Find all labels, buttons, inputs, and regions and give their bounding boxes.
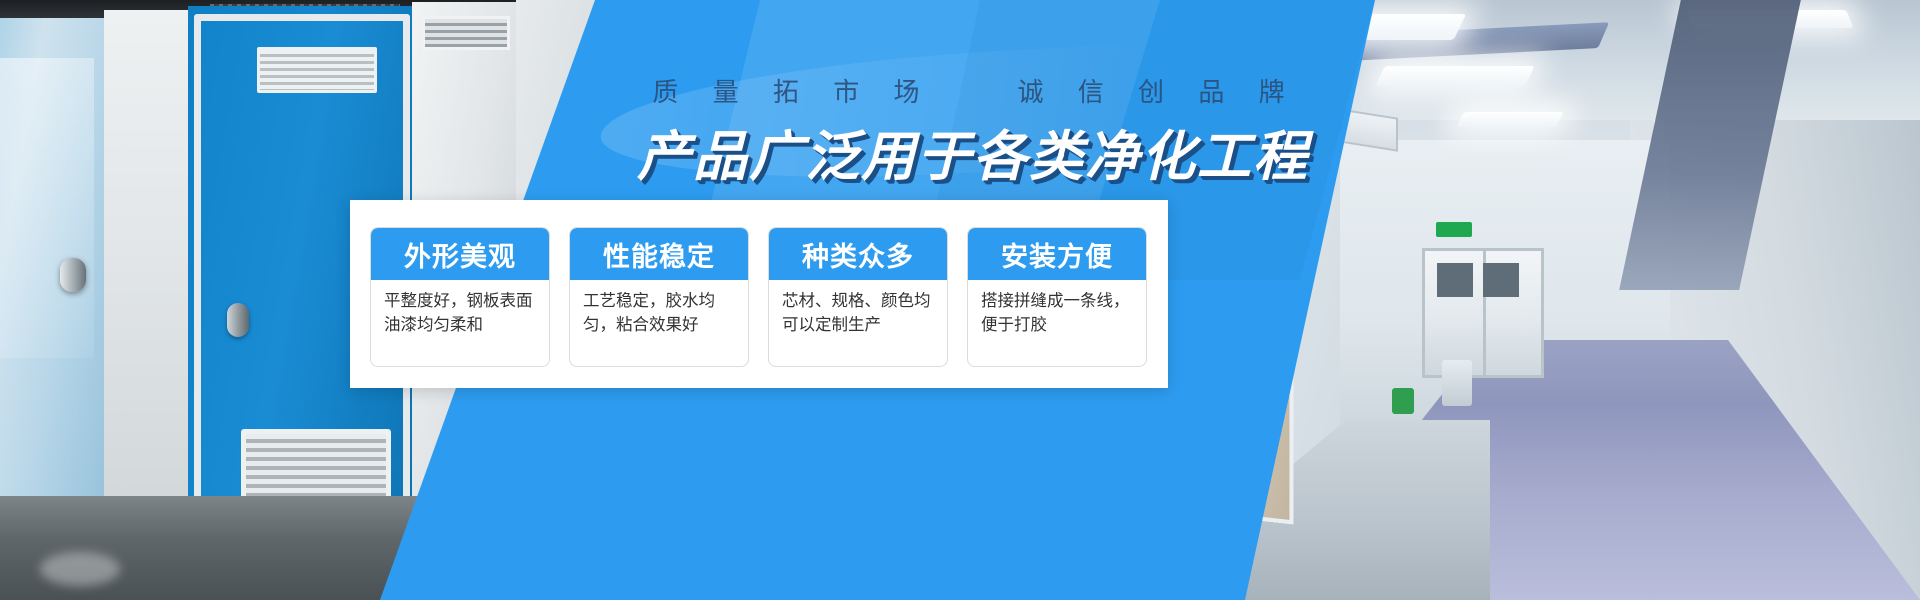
feature-card-3[interactable]: 种类众多 芯材、规格、颜色均可以定制生产 — [768, 227, 948, 367]
ceiling-light — [1375, 66, 1535, 86]
feature-card-4[interactable]: 安装方便 搭接拼缝成一条线，便于打胶 — [967, 227, 1147, 367]
promo-banner: 质 量 拓 市 场 诚 信 创 品 牌 产品广泛用于各类净化工程 外形美观 平整… — [0, 0, 1920, 600]
vent-bottom — [241, 429, 391, 501]
door-lock — [60, 258, 86, 292]
feature-card-panel: 外形美观 平整度好，钢板表面油漆均匀柔和 性能稳定 工艺稳定，胶水均匀，粘合效果… — [350, 200, 1168, 388]
feature-card-2[interactable]: 性能稳定 工艺稳定，胶水均匀，粘合效果好 — [569, 227, 749, 367]
exit-sign-icon — [1436, 222, 1472, 237]
feature-card-2-title: 性能稳定 — [570, 228, 748, 280]
double-door-far — [1422, 248, 1544, 378]
feature-card-1-title: 外形美观 — [371, 228, 549, 280]
green-object — [1392, 388, 1414, 414]
feature-card-3-body: 芯材、规格、颜色均可以定制生产 — [769, 280, 947, 366]
feature-card-1[interactable]: 外形美观 平整度好，钢板表面油漆均匀柔和 — [370, 227, 550, 367]
door-handle — [227, 303, 249, 337]
ceiling-light — [1456, 112, 1563, 127]
vent-top — [257, 47, 377, 93]
feature-card-3-title: 种类众多 — [769, 228, 947, 280]
corridor-cart — [1442, 360, 1472, 406]
feature-card-1-body: 平整度好，钢板表面油漆均匀柔和 — [371, 280, 549, 366]
feature-card-4-title: 安装方便 — [968, 228, 1146, 280]
feature-card-row: 外形美观 平整度好，钢板表面油漆均匀柔和 性能稳定 工艺稳定，胶水均匀，粘合效果… — [370, 227, 1147, 367]
feature-card-4-body: 搭接拼缝成一条线，便于打胶 — [968, 280, 1146, 366]
feature-card-2-body: 工艺稳定，胶水均匀，粘合效果好 — [570, 280, 748, 366]
